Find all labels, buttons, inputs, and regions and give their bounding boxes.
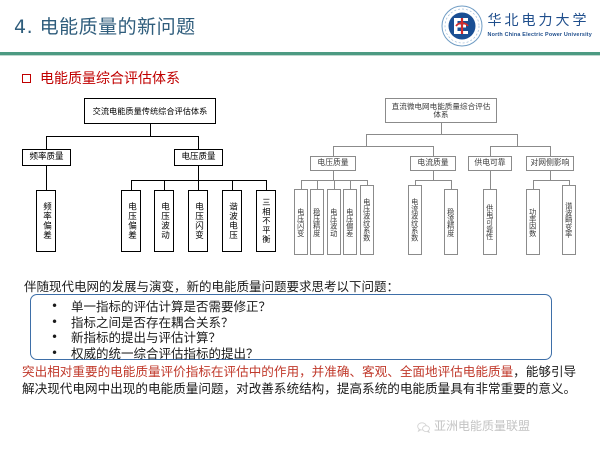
page-title: 4. 电能质量的新问题	[14, 12, 196, 39]
list-item: 权威的统一综合评估指标的提出？	[49, 346, 551, 362]
list-item: 单一指标的评估计算是否需要修正？	[49, 299, 551, 315]
connector	[490, 146, 491, 156]
right-leaf-voltage-stability-accuracy: 稳压精度	[310, 189, 324, 255]
right-branch-node-3: 供电可靠	[468, 156, 512, 171]
title-divider-shadow	[0, 55, 600, 56]
right-leaf-voltage-deviation: 电压偏差	[343, 189, 357, 255]
connector	[550, 171, 551, 180]
connector	[550, 146, 551, 156]
node-label: 电压闪变	[297, 208, 305, 237]
conclusion-highlight: 突出相对重要的电能质量评价指标在评估中的作用，并准确、客观、全面地评估电能质量	[22, 364, 513, 379]
connector	[366, 134, 367, 146]
connector	[441, 123, 442, 134]
watermark-label: 亚洲电能质量联盟	[434, 417, 530, 434]
node-label: 电压波动	[160, 202, 169, 240]
connector	[490, 146, 550, 147]
node-label: 电流波纹系数	[411, 198, 419, 241]
left-leaf-harmonic-voltage: 谐波电压	[222, 190, 242, 252]
left-leaf-freq-deviation: 频率偏差	[36, 190, 56, 252]
node-label: 电压质量	[317, 159, 348, 167]
right-leaf-voltage-fluctuation: 电压波动	[327, 189, 341, 255]
left-leaf-voltage-flicker: 电压闪变	[188, 190, 208, 252]
slide-header: 4. 电能质量的新问题 华北电力大学 North China Electric …	[0, 0, 600, 52]
connector	[334, 180, 335, 189]
connector	[266, 180, 267, 190]
right-leaf-supply-reliability: 供电可靠性	[483, 189, 497, 255]
connector	[350, 180, 351, 189]
connector	[46, 166, 47, 190]
questions-box: 单一指标的评估计算是否需要修正？ 指标之间是否存在耦合关系？ 新指标的提出与评估…	[30, 294, 552, 360]
node-label: 电压偏差	[127, 202, 136, 240]
connector	[198, 166, 199, 180]
left-branch-node-2: 电压质量	[174, 149, 223, 166]
connector	[317, 180, 318, 189]
square-bullet-icon	[22, 74, 31, 83]
connector	[451, 180, 452, 189]
node-label: 电流质量	[417, 159, 448, 167]
right-leaf-current-ripple-coefficient: 电流波纹系数	[408, 185, 422, 255]
connector	[164, 180, 165, 190]
node-label: 供电可靠性	[486, 204, 494, 240]
right-branch-node-4: 对网侧影响	[526, 156, 574, 171]
node-label: 电压波动	[330, 208, 338, 237]
connector	[333, 146, 334, 156]
university-name-en: North China Electric Power University	[488, 32, 592, 38]
connector	[46, 136, 198, 137]
node-label: 谐波畸变率	[565, 202, 573, 238]
right-branch-node-1: 电压质量	[310, 156, 356, 171]
right-leaf-voltage-flicker: 电压闪变	[294, 189, 308, 255]
connector	[150, 124, 151, 136]
node-label: 直流微电网电能质量综合评估体系	[389, 103, 493, 119]
list-item: 指标之间是否存在耦合关系？	[49, 315, 551, 331]
node-label: 供电可靠	[474, 159, 505, 167]
connector	[433, 171, 434, 180]
university-name-cn: 华北电力大学	[488, 14, 592, 29]
connector	[46, 136, 47, 149]
watermark: 亚洲电能质量联盟	[417, 417, 530, 434]
connector	[366, 134, 517, 135]
connector	[198, 136, 199, 149]
right-leaf-power-factor: 功率因数	[526, 189, 540, 255]
connector	[131, 180, 132, 190]
right-leaf-current-stability-accuracy: 稳流精度	[444, 189, 458, 255]
university-logo-text: 华北电力大学 North China Electric Power Univer…	[488, 14, 592, 37]
node-label: 谐波电压	[228, 202, 237, 240]
right-tree-root-node: 直流微电网电能质量综合评估体系	[385, 98, 497, 123]
node-label: 电压质量	[181, 153, 215, 162]
connector	[333, 171, 334, 180]
questions-list: 单一指标的评估计算是否需要修正？ 指标之间是否存在耦合关系？ 新指标的提出与评估…	[31, 295, 551, 361]
section-heading-label: 电能质量综合评估体系	[40, 68, 180, 88]
right-branch-node-2: 电流质量	[410, 156, 456, 171]
connector	[198, 180, 199, 190]
node-label: 频率偏差	[42, 202, 51, 240]
connector	[301, 180, 302, 189]
node-label: 功率因数	[529, 208, 537, 237]
wechat-icon	[417, 420, 430, 431]
node-label: 电压闪变	[194, 202, 203, 240]
connector	[232, 180, 233, 190]
section-heading: 电能质量综合评估体系	[22, 68, 180, 88]
node-label: 三相不平衡	[262, 198, 271, 244]
node-label: 稳流精度	[447, 208, 455, 237]
connector	[533, 180, 534, 189]
node-label: 频率质量	[29, 153, 63, 162]
node-label: 对网侧影响	[531, 159, 570, 167]
connector	[517, 134, 518, 146]
node-label: 电压偏差	[346, 208, 354, 237]
connector	[533, 180, 569, 181]
node-label: 交流电能质量传统综合评估体系	[93, 107, 208, 116]
left-tree-root-node: 交流电能质量传统综合评估体系	[84, 98, 216, 124]
right-leaf-voltage-ripple-coefficient: 电压波纹系数	[360, 185, 374, 255]
conclusion-paragraph: 突出相对重要的电能质量评价指标在评估中的作用，并准确、客观、全面地评估电能质量，…	[22, 363, 580, 397]
left-leaf-three-phase-unbalance: 三相不平衡	[256, 190, 276, 252]
right-leaf-harmonic-distortion-rate: 谐波畸变率	[562, 185, 576, 255]
left-leaf-voltage-deviation: 电压偏差	[121, 190, 141, 252]
evaluation-system-diagram: 交流电能质量传统综合评估体系 频率质量 频率偏差 电压质量 电压偏差 电压波动 …	[0, 92, 600, 274]
connector	[415, 180, 451, 181]
connector	[433, 146, 434, 156]
left-branch-node-1: 频率质量	[22, 149, 71, 166]
connector	[490, 171, 491, 189]
node-label: 电压波纹系数	[363, 198, 371, 241]
university-logo: 华北电力大学 North China Electric Power Univer…	[441, 4, 592, 48]
left-leaf-voltage-fluctuation: 电压波动	[154, 190, 174, 252]
university-emblem-icon	[441, 5, 483, 47]
connector	[333, 146, 433, 147]
list-item: 新指标的提出与评估计算？	[49, 330, 551, 346]
lead-paragraph: 伴随现代电网的发展与演变，新的电能质量问题要求思考以下问题：	[24, 276, 399, 295]
node-label: 稳压精度	[313, 208, 321, 237]
